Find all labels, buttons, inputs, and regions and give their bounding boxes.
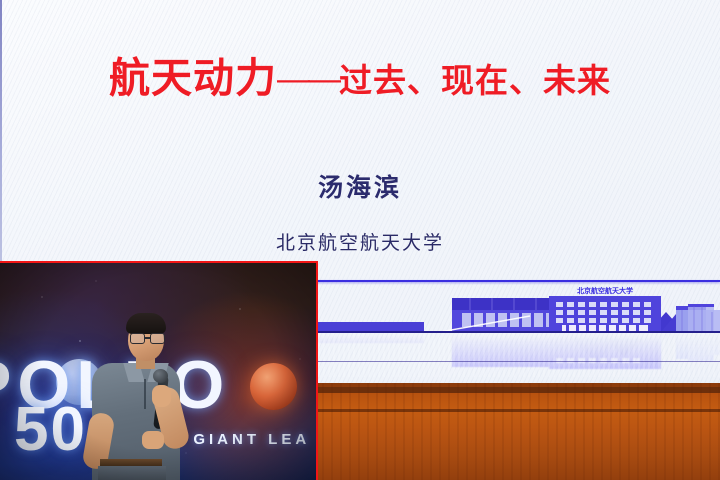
presenter-trousers <box>98 466 166 480</box>
slide-title: 航天动力——过去、现在、未来 <box>0 44 720 104</box>
picture-in-picture-camera[interactable]: POLLO 50 XT GIANT LEA <box>0 261 318 480</box>
mars-planet-icon <box>250 363 297 410</box>
slide-title-subtitle: 过去、现在、未来 <box>339 62 611 99</box>
presenter-hair <box>126 313 166 334</box>
slide-title-dash: —— <box>277 60 339 97</box>
glasses-bridge <box>145 337 150 339</box>
building-sign-text: 北京航空航天大学 <box>577 286 633 295</box>
speaker-name: 汤海滨 <box>0 168 720 204</box>
glasses-icon <box>130 333 168 344</box>
glasses-lens-right <box>150 333 165 344</box>
presenter-hand-right <box>152 385 171 407</box>
microphone-capsule-icon <box>153 369 168 383</box>
slide-title-main: 航天动力 <box>109 55 277 101</box>
speaker-organization: 北京航空航天大学 <box>0 228 720 255</box>
presenter-hand-left <box>142 431 164 449</box>
presentation-screenshot: 航天动力——过去、现在、未来 汤海滨 北京航空航天大学 <box>0 0 720 480</box>
apollo-anniversary-number: 50 <box>14 399 87 461</box>
presenter-shirt-placket <box>144 379 146 409</box>
glasses-lens-left <box>130 333 145 344</box>
